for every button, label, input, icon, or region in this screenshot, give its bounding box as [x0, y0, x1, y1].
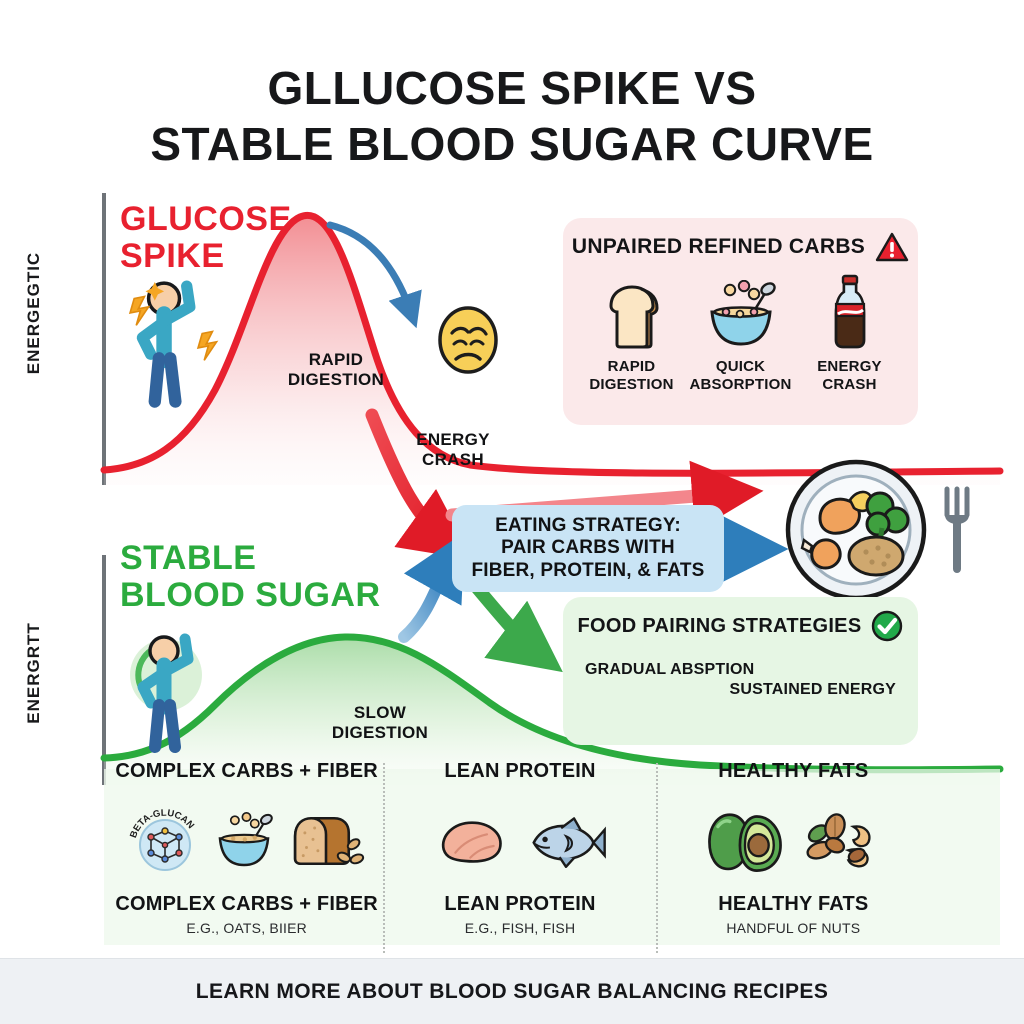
unpaired-refined-carbs-panel: UNPAIRED REFINED CARBS RAPID DIGESTIO	[563, 218, 918, 425]
stable-to-strategy-arrow	[404, 555, 452, 637]
annotation-energy-crash: ENERGY CRASH	[398, 430, 508, 471]
energetic-person-icon	[130, 282, 217, 401]
food-footer-title: HEALTHY FATS	[657, 893, 930, 916]
annotation-slow-digestion: SLOW DIGESTION	[320, 703, 440, 744]
food-column-header-cell: COMPLEX CARBS + FIBER	[110, 760, 383, 783]
refined-carb-caption: RAPID DIGESTION	[580, 358, 684, 393]
title-line-2: STABLE BLOOD SUGAR CURVE	[0, 116, 1024, 172]
eating-strategy-box: EATING STRATEGY: PAIR CARBS WITH FIBER, …	[452, 505, 724, 592]
whole-grain-bread-icon	[287, 810, 365, 872]
soda-bottle-icon	[798, 272, 902, 350]
green-check-icon	[871, 610, 903, 642]
chicken-breast-icon	[432, 811, 512, 871]
avocado-icon	[704, 808, 786, 874]
cereal-bowl-icon	[689, 272, 793, 350]
warning-triangle-icon	[875, 232, 909, 262]
food-pairing-panel-header: FOOD PAIRING STRATEGIES	[563, 597, 918, 642]
stable-sugar-heading-line2: BLOOD SUGAR	[120, 576, 381, 614]
stable-sugar-heading-line1: STABLE	[120, 539, 256, 577]
refined-carbs-panel-title: UNPAIRED REFINED CARBS	[572, 235, 865, 259]
food-footer-title: COMPLEX CARBS + FIBER	[110, 893, 383, 916]
food-column-headers: COMPLEX CARBS + FIBER LEAN PROTEIN HEALT…	[110, 760, 930, 783]
food-column-header-label: COMPLEX CARBS + FIBER	[110, 760, 383, 783]
food-footer-sub: E.G., FISH, FISH	[383, 920, 656, 936]
glucose-spike-heading-line2: SPIKE	[120, 237, 225, 275]
refined-carb-caption: ENERGY CRASH	[798, 358, 902, 393]
y-axis-label-top: ENERGEGTIC	[24, 243, 44, 383]
footer-cta-banner[interactable]: LEARN MORE ABOUT BLOOD SUGAR BALANCING R…	[0, 958, 1024, 1024]
glucose-spike-heading-line1: GLUCOSE	[120, 200, 292, 238]
food-column-footers: COMPLEX CARBS + FIBER E.G., OATS, BIIER …	[110, 893, 930, 936]
eating-strategy-line2: PAIR CARBS WITH	[501, 537, 675, 558]
chart-stage: ENERGEGTIC ENERGRTT GLUCOSE SPIKE STABLE…	[0, 185, 1024, 945]
oatmeal-bowl-icon	[213, 812, 275, 870]
refined-carbs-panel-header: UNPAIRED REFINED CARBS	[563, 218, 918, 262]
footer-cta-label: LEARN MORE ABOUT BLOOD SUGAR BALANCING R…	[196, 980, 828, 1004]
food-icon-cell-carbs: BETA-GLUCAN	[110, 793, 383, 889]
food-icon-cell-protein	[383, 793, 656, 889]
refined-carbs-icon-row: RAPID DIGESTION	[563, 262, 918, 393]
food-column-header-cell: HEALTHY FATS	[657, 760, 930, 783]
glucose-spike-heading: GLUCOSE SPIKE	[120, 201, 292, 276]
food-icon-columns: BETA-GLUCAN	[110, 793, 930, 889]
balanced-meal-plate-icon	[788, 462, 924, 598]
tired-face-icon	[440, 308, 496, 372]
fish-icon	[524, 812, 608, 870]
food-footer-sub: E.G., OATS, BIIER	[110, 920, 383, 936]
food-pairing-subtexts: GRADUAL ABSPTION SUSTAINED ENERGY	[563, 646, 918, 728]
gradual-absorption-label: GRADUAL ABSPTION	[585, 660, 754, 679]
food-column-header-label: LEAN PROTEIN	[383, 760, 656, 783]
page-title: GLLUCOSE SPIKE VS STABLE BLOOD SUGAR CUR…	[0, 60, 1024, 172]
white-bread-slice-icon	[580, 272, 684, 350]
title-line-1: GLLUCOSE SPIKE VS	[267, 62, 756, 114]
sustained-energy-label: SUSTAINED ENERGY	[730, 680, 896, 699]
food-pairing-strategies-panel: FOOD PAIRING STRATEGIES GRADUAL ABSPTION…	[563, 597, 918, 745]
y-axis-label-bottom: ENERGRTT	[24, 603, 44, 743]
food-column-footer-cell: LEAN PROTEIN E.G., FISH, FISH	[383, 893, 656, 936]
food-footer-title: LEAN PROTEIN	[383, 893, 656, 916]
food-icon-cell-fats	[657, 793, 930, 889]
annotation-rapid-digestion: RAPID DIGESTION	[276, 350, 396, 391]
food-column-header-label: HEALTHY FATS	[657, 760, 930, 783]
infographic-page: GLLUCOSE SPIKE VS STABLE BLOOD SUGAR CUR…	[0, 0, 1024, 1024]
eating-strategy-line1: EATING STRATEGY:	[495, 515, 681, 536]
eating-strategy-text: EATING STRATEGY: PAIR CARBS WITH FIBER, …	[471, 515, 704, 582]
beta-glucan-badge-icon: BETA-GLUCAN	[129, 805, 201, 877]
stable-sugar-heading: STABLE BLOOD SUGAR	[120, 540, 381, 615]
mixed-nuts-icon	[798, 808, 882, 874]
refined-carb-caption: QUICK ABSORPTION	[689, 358, 793, 393]
food-pairing-panel-title: FOOD PAIRING STRATEGIES	[578, 615, 862, 638]
food-footer-sub: HANDFUL OF NUTS	[657, 920, 930, 936]
refined-carb-item: ENERGY CRASH	[798, 272, 902, 393]
food-column-footer-cell: HEALTHY FATS HANDFUL OF NUTS	[657, 893, 930, 936]
refined-carb-item: QUICK ABSORPTION	[689, 272, 793, 393]
food-column-header-cell: LEAN PROTEIN	[383, 760, 656, 783]
fork-icon	[945, 489, 969, 569]
refined-carb-item: RAPID DIGESTION	[580, 272, 684, 393]
food-column-footer-cell: COMPLEX CARBS + FIBER E.G., OATS, BIIER	[110, 893, 383, 936]
eating-strategy-line3: FIBER, PROTEIN, & FATS	[471, 560, 704, 581]
